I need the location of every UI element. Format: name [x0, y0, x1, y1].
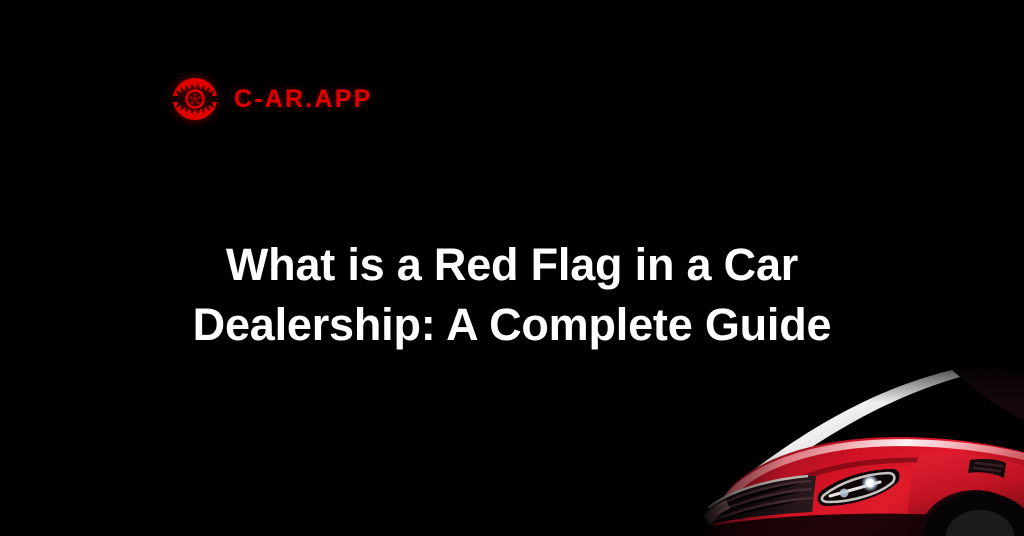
- page-title-line-2: Dealership: A Complete Guide: [100, 295, 924, 354]
- red-suv-photo: [684, 356, 1024, 536]
- page-title-line-1: What is a Red Flag in a Car: [100, 235, 924, 294]
- brand-name: C-AR.APP: [234, 87, 372, 112]
- artwork-top-fade: [684, 356, 1024, 536]
- artwork-left-fade: [684, 356, 1024, 536]
- brand-logo[interactable]: C-AR.APP: [170, 76, 372, 122]
- brake-rotor-icon: [170, 76, 220, 122]
- page-title: What is a Red Flag in a Car Dealership: …: [0, 235, 1024, 354]
- article-hero-banner: C-AR.APP What is a Red Flag in a Car Dea…: [0, 0, 1024, 536]
